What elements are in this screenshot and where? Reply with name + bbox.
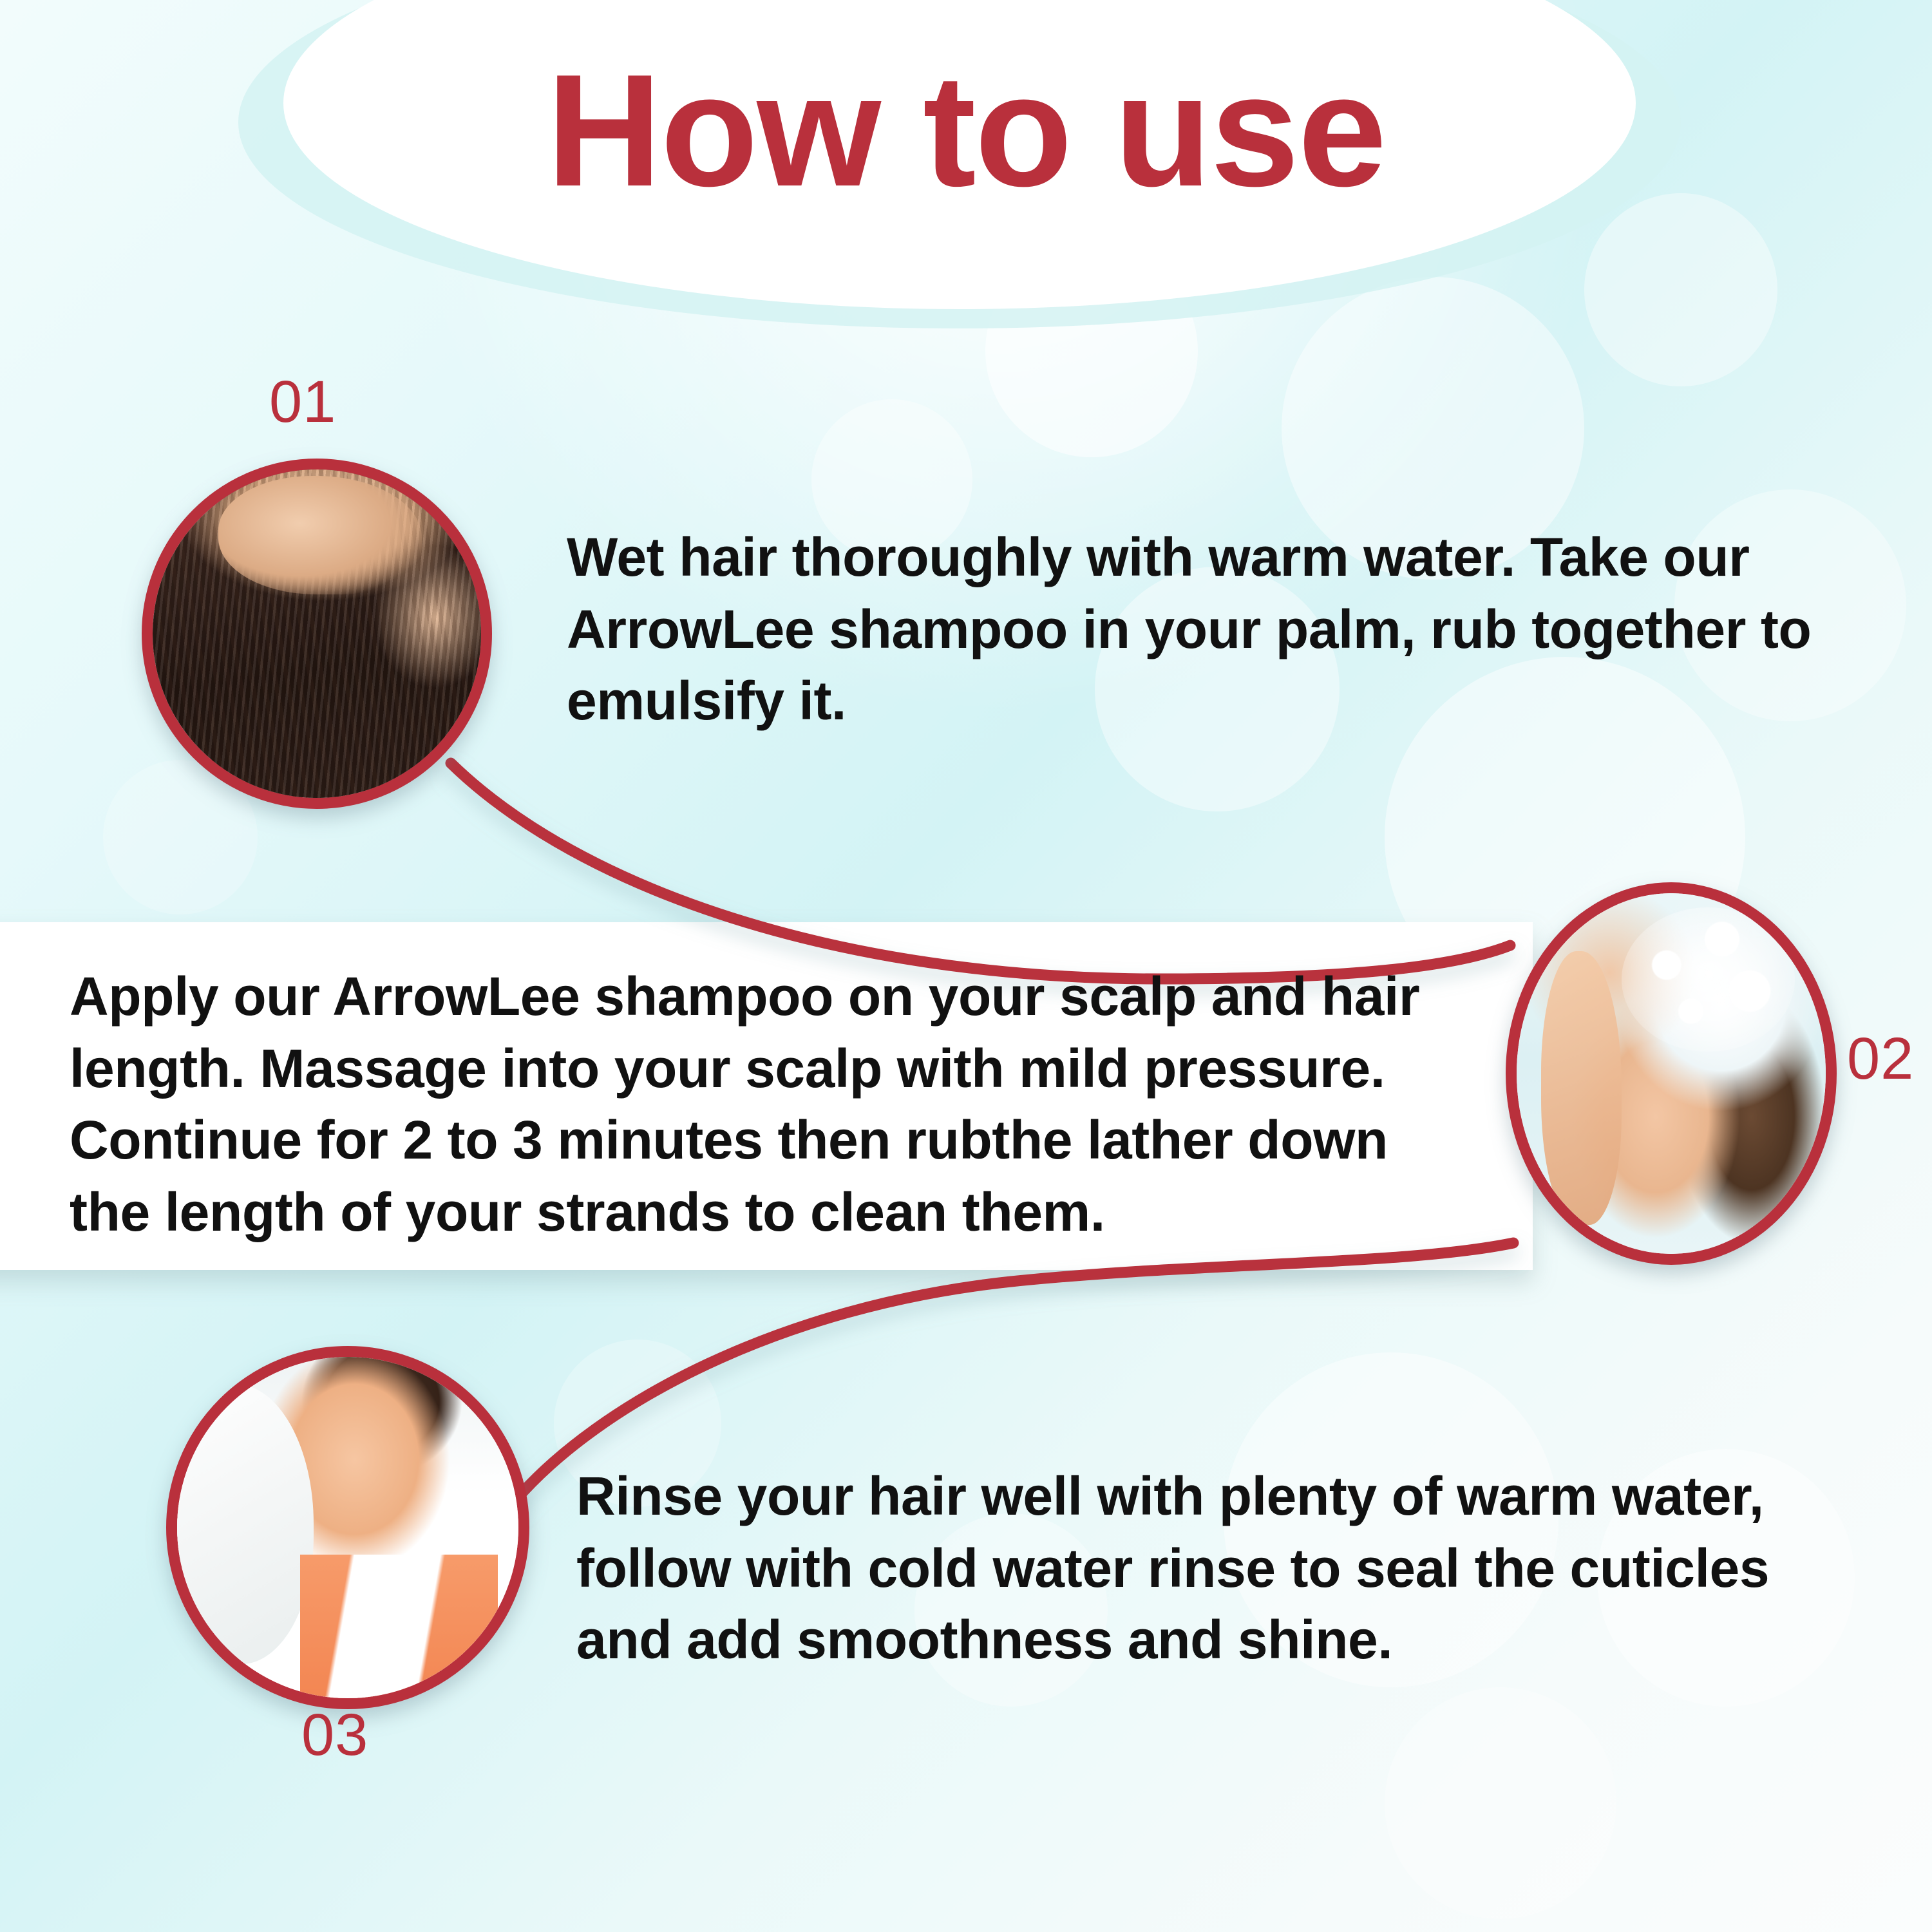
page-title: How to use	[0, 50, 1932, 210]
step-number-03: 03	[301, 1705, 368, 1765]
infographic-poster: How to use 01 Wet hair thoroughly with w…	[0, 0, 1932, 1932]
step-1-description: Wet hair thoroughly with warm water. Tak…	[567, 522, 1829, 737]
woman-towel-drying-hair-photo	[177, 1357, 518, 1698]
step-2-description: Apply our ArrowLee shampoo on your scalp…	[70, 961, 1422, 1249]
step-3-photo-circle	[166, 1346, 529, 1709]
woman-washing-wet-hair-photo	[153, 469, 481, 798]
step-1-photo-circle	[142, 459, 492, 809]
woman-lathering-shampoo-photo	[1517, 893, 1826, 1254]
step-2-photo-circle	[1506, 882, 1837, 1265]
bokeh-circle	[1385, 1687, 1616, 1919]
step-3-description: Rinse your hair well with plenty of warm…	[576, 1461, 1839, 1676]
step-number-02: 02	[1847, 1029, 1914, 1088]
step-number-01: 01	[269, 372, 336, 431]
bokeh-circle	[1584, 193, 1777, 386]
